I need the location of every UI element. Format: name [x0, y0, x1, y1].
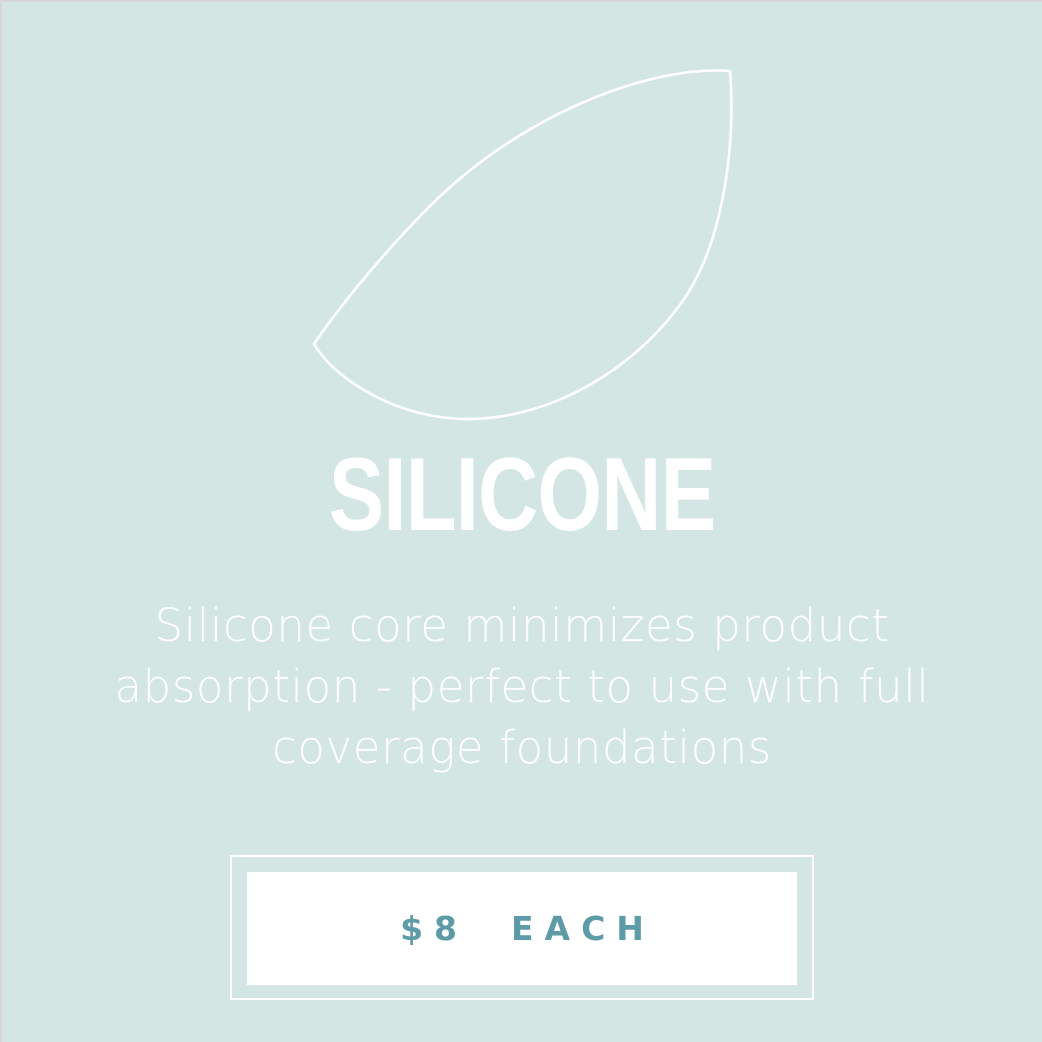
price-button[interactable]: $8 EACH [230, 855, 814, 1000]
product-illustration [2, 2, 1042, 472]
price-unit: EACH [511, 909, 655, 948]
leaf-sponge-outline-icon [2, 2, 1042, 472]
price-button-label: $8 EACH [389, 912, 655, 945]
product-card: SILICONE Silicone core minimizes product… [0, 0, 1042, 1042]
price-button-surface[interactable]: $8 EACH [247, 872, 797, 985]
description-line-1: Silicone core minimizes product [47, 595, 997, 656]
description-line-2: absorption - perfect to use with full [47, 656, 997, 717]
product-description: Silicone core minimizes product absorpti… [47, 595, 997, 778]
page-title: SILICONE [106, 443, 938, 547]
price-amount: $8 [400, 909, 468, 948]
description-line-3: coverage foundations [47, 717, 997, 778]
